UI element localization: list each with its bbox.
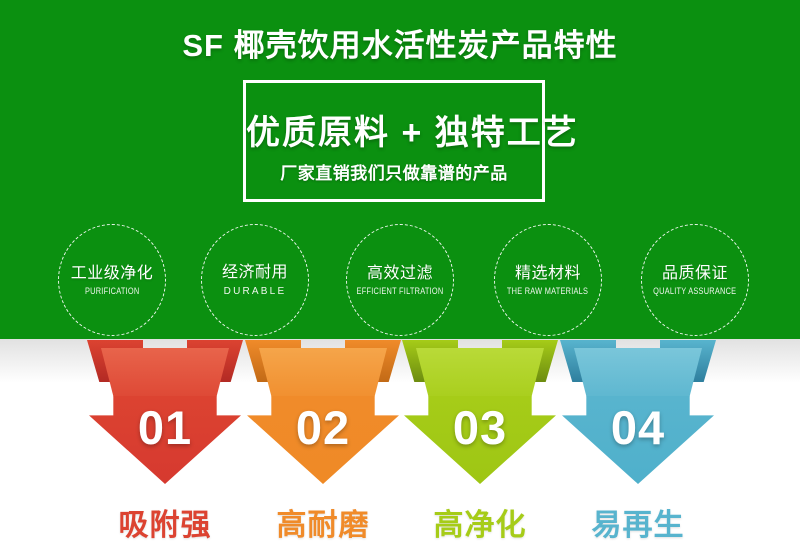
- feature-circle-3: 高效过滤EFFICIENT FILTRATION: [346, 224, 454, 336]
- arrow-head: [404, 396, 556, 484]
- feature-circle-4: 精选材料THE RAW MATERIALS: [494, 224, 602, 336]
- slogan-sub-text: 厂家直销我们只做靠谱的产品: [246, 159, 542, 184]
- arrow-head: [89, 396, 241, 484]
- step-label-02: 高耐磨: [243, 500, 403, 544]
- feature-circle-row: 工业级净化PURIFICATION经济耐用DURABLE高效过滤EFFICIEN…: [0, 224, 800, 336]
- feature-title-cn: 精选材料: [515, 264, 581, 285]
- step-arrow-row: 01020304: [0, 338, 800, 488]
- step-label-04: 易再生: [558, 500, 718, 544]
- arrow-head: [247, 396, 399, 484]
- feature-title-en: QUALITY ASSURANCE: [653, 286, 736, 296]
- step-arrow-04[interactable]: 04: [558, 338, 718, 488]
- step-label-row: 吸附强高耐磨高净化易再生: [0, 500, 800, 548]
- feature-title-cn: 高效过滤: [367, 264, 433, 285]
- arrow-head: [562, 396, 714, 484]
- slogan-frame: 优质原料 + 独特工艺 厂家直销我们只做靠谱的产品: [243, 80, 545, 202]
- poster-canvas: SF 椰壳饮用水活性炭产品特性 优质原料 + 独特工艺 厂家直销我们只做靠谱的产…: [0, 0, 800, 550]
- feature-title-cn: 经济耐用: [222, 263, 288, 284]
- feature-title-cn: 品质保证: [662, 264, 728, 285]
- page-title: SF 椰壳饮用水活性炭产品特性: [0, 20, 800, 65]
- slogan-main-text: 优质原料 + 独特工艺: [246, 105, 542, 154]
- feature-circle-5: 品质保证QUALITY ASSURANCE: [641, 224, 749, 336]
- feature-title-en: DURABLE: [224, 286, 287, 297]
- step-label-01: 吸附强: [85, 500, 245, 544]
- feature-title-en: EFFICIENT FILTRATION: [357, 286, 444, 296]
- step-arrow-02[interactable]: 02: [243, 338, 403, 488]
- step-arrow-03[interactable]: 03: [400, 338, 560, 488]
- step-label-03: 高净化: [400, 500, 560, 544]
- feature-title-en: PURIFICATION: [85, 286, 139, 296]
- feature-circle-1: 工业级净化PURIFICATION: [58, 224, 166, 336]
- feature-circle-2: 经济耐用DURABLE: [201, 224, 309, 336]
- feature-title-en: THE RAW MATERIALS: [507, 286, 588, 296]
- step-arrow-01[interactable]: 01: [85, 338, 245, 488]
- feature-title-cn: 工业级净化: [71, 264, 154, 285]
